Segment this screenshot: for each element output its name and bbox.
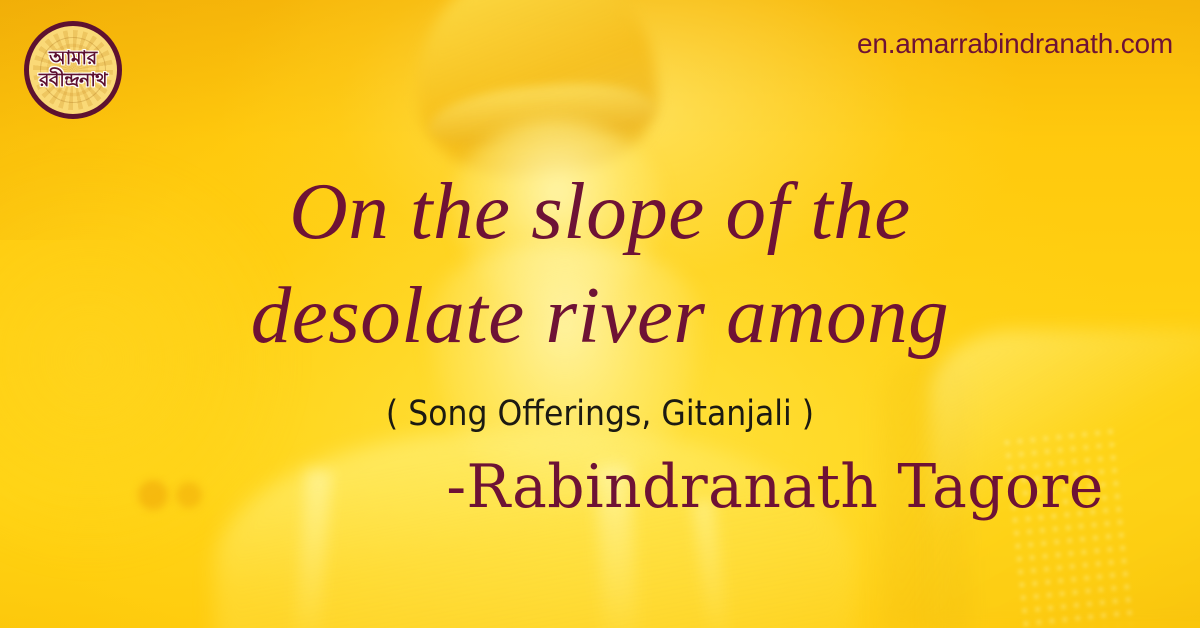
- quote-author: -Rabindranath Tagore: [447, 452, 1104, 522]
- quote-line-1: On the slope of the: [0, 160, 1200, 264]
- quote-text: On the slope of the desolate river among: [0, 160, 1200, 367]
- logo-text: আমার রবীন্দ্রনাথ: [39, 49, 107, 91]
- logo-text-line2: রবীন্দ্রনাথ: [39, 71, 107, 92]
- quote-line-2: desolate river among: [0, 264, 1200, 368]
- logo-text-line1: আমার: [39, 49, 107, 70]
- site-logo[interactable]: আমার রবীন্দ্রনাথ: [24, 21, 122, 119]
- quote-source: ( Song Offerings, Gitanjali ): [60, 394, 1140, 434]
- site-url[interactable]: en.amarrabindranath.com: [857, 28, 1173, 60]
- quote-card: আমার রবীন্দ্রনাথ en.amarrabindranath.com…: [0, 0, 1200, 628]
